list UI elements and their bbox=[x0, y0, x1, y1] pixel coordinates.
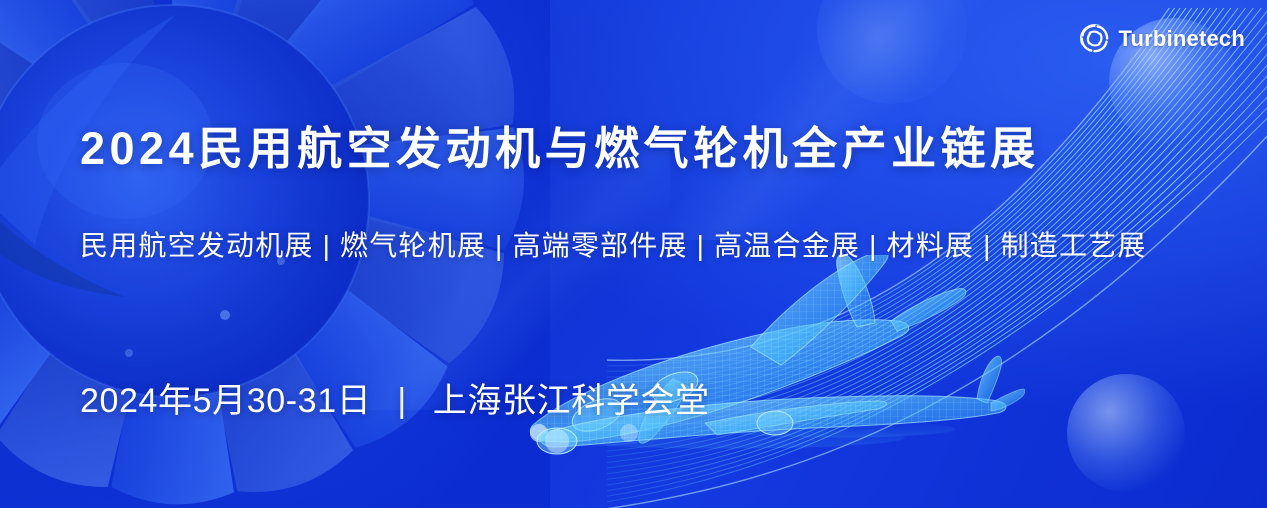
banner-content: 2024民用航空发动机与燃气轮机全产业链展 民用航空发动机展 | 燃气轮机展 |… bbox=[0, 0, 1267, 508]
brand-logo[interactable]: Turbinetech bbox=[1078, 22, 1245, 55]
turbine-swirl-icon bbox=[1078, 22, 1111, 55]
event-title: 2024民用航空发动机与燃气轮机全产业链展 bbox=[80, 124, 1040, 174]
event-venue: 上海张江科学会堂 bbox=[433, 381, 710, 422]
logo-wordmark: Turbinetech bbox=[1119, 28, 1245, 50]
meta-separator: | bbox=[397, 381, 406, 422]
event-meta: 2024年5月30-31日 | 上海张江科学会堂 bbox=[80, 381, 710, 422]
event-banner: Turbinetech 2024民用航空发动机与燃气轮机全产业链展 民用航空发动… bbox=[0, 0, 1267, 508]
event-subtitle: 民用航空发动机展 | 燃气轮机展 | 高端零部件展 | 高温合金展 | 材料展 … bbox=[80, 228, 1147, 263]
event-date: 2024年5月30-31日 bbox=[80, 381, 371, 422]
